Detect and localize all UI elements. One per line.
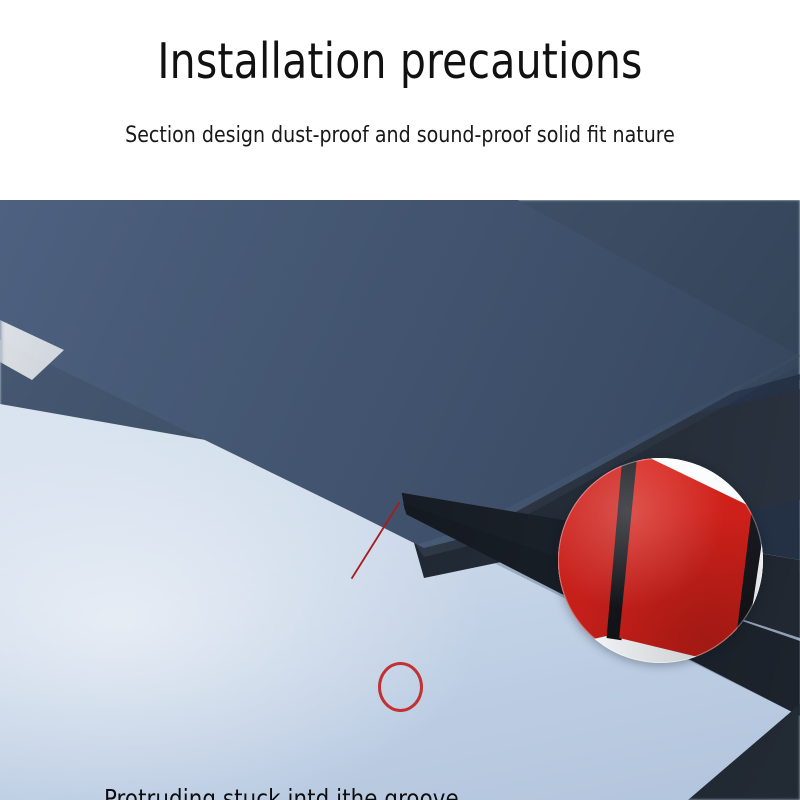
header-banner: Installation precautions Section design … [0, 0, 800, 200]
page-title: Installation precautions [28, 36, 772, 88]
highlight-circle [378, 662, 423, 712]
photo-caption: Protruding stuck intd ithe groove [104, 784, 459, 800]
detail-inset-circle [558, 458, 763, 663]
page-subtitle: Section design dust-proof and sound-proo… [24, 122, 776, 149]
product-photo: Protruding stuck intd ithe groove [0, 200, 800, 800]
product-infographic: Installation precautions Section design … [0, 0, 800, 800]
inset-ring-edge [558, 458, 763, 663]
